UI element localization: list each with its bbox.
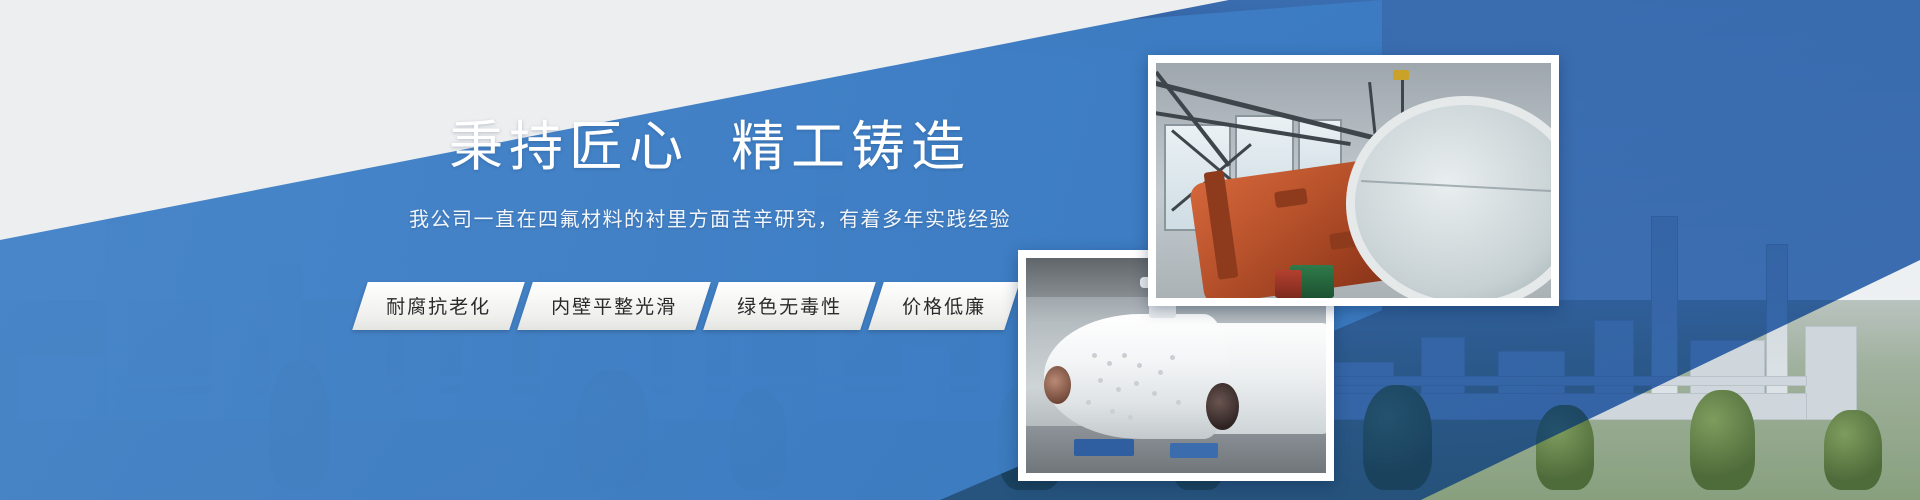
red-drum <box>1275 270 1303 298</box>
feature-pill-label: 耐腐抗老化 <box>386 292 491 319</box>
feature-pill-label: 价格低廉 <box>902 292 986 319</box>
feature-pill-list: 耐腐抗老化 内壁平整光滑 绿色无毒性 价格低廉 <box>360 282 1012 330</box>
hero-banner: 秉持匠心 精工铸造 我公司一直在四氟材料的衬里方面苦辛研究，有着多年实践经验 耐… <box>0 0 1920 500</box>
copper-reactor-vessel-photo[interactable] <box>1148 55 1559 306</box>
tank-support-cradle-2 <box>1170 443 1218 458</box>
tank-body-main <box>1044 314 1230 439</box>
tank-side-port-right <box>1206 383 1239 430</box>
feature-pill[interactable]: 耐腐抗老化 <box>352 282 525 330</box>
feature-pill-label: 绿色无毒性 <box>737 292 842 319</box>
feature-pill[interactable]: 价格低廉 <box>868 282 1020 330</box>
banner-headline: 秉持匠心 精工铸造 <box>370 118 1050 177</box>
feature-pill[interactable]: 内壁平整光滑 <box>517 282 711 330</box>
banner-subtitle: 我公司一直在四氟材料的衬里方面苦辛研究，有着多年实践经验 <box>370 203 1050 232</box>
tank-support-cradle <box>1074 439 1134 456</box>
banner-copy: 秉持匠心 精工铸造 我公司一直在四氟材料的衬里方面苦辛研究，有着多年实践经验 <box>370 118 1050 232</box>
feature-pill[interactable]: 绿色无毒性 <box>703 282 876 330</box>
tank-side-port-left <box>1044 366 1071 405</box>
feature-pill-label: 内壁平整光滑 <box>551 292 677 319</box>
copper-reactor-vessel-photo-inner <box>1156 63 1551 298</box>
hoist-hook <box>1393 70 1409 80</box>
